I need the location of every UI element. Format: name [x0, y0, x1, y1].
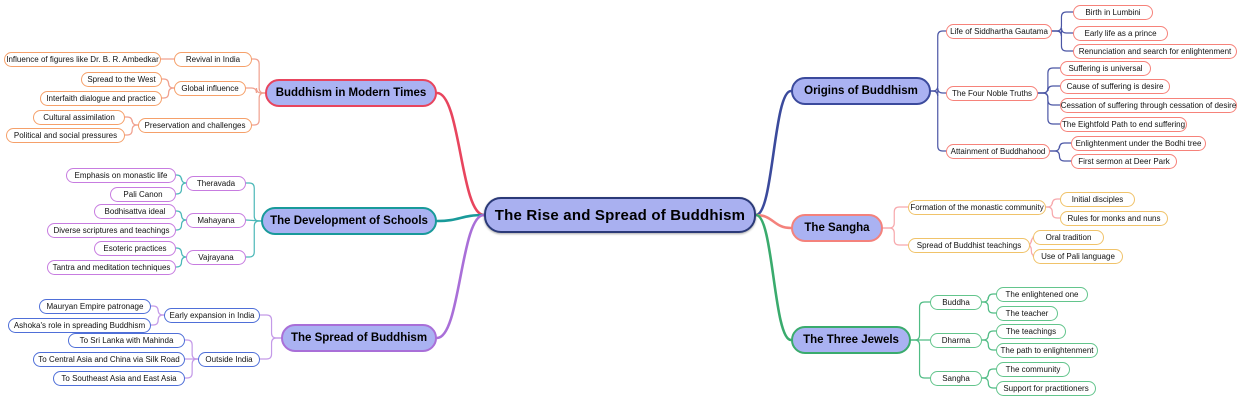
- connector: [1046, 199, 1060, 207]
- node-label: Global influence: [181, 84, 238, 93]
- node-attainment-buddhahood[interactable]: Attainment of Buddhahood: [946, 144, 1050, 159]
- branch-origins[interactable]: Origins of Buddhism: [791, 77, 931, 105]
- node-mauryan-patronage[interactable]: Mauryan Empire patronage: [39, 299, 151, 314]
- node-label: Theravada: [197, 179, 235, 188]
- node-label: Mauryan Empire patronage: [47, 302, 144, 311]
- node-label: Preservation and challenges: [145, 121, 246, 130]
- node-preservation-challenges[interactable]: Preservation and challenges: [138, 118, 252, 133]
- node-label: Diverse scriptures and teachings: [53, 226, 169, 235]
- connector: [176, 248, 187, 257]
- node-birth-in-lumbini[interactable]: Birth in Lumbini: [1073, 5, 1153, 20]
- connector: [756, 91, 791, 215]
- node-label: Interfaith dialogue and practice: [46, 94, 155, 103]
- connector: [151, 315, 164, 325]
- node-label: The Eightfold Path to end suffering: [1062, 120, 1185, 129]
- node-label: Birth in Lumbini: [1085, 8, 1140, 17]
- node-label: Early life as a prince: [1084, 29, 1156, 38]
- connector: [1052, 12, 1073, 31]
- connector: [982, 331, 996, 340]
- connector: [931, 31, 946, 91]
- connector: [185, 359, 198, 378]
- node-label: Renunciation and search for enlightenmen…: [1079, 47, 1232, 56]
- node-label: Enlightenment under the Bodhi tree: [1076, 139, 1202, 148]
- connector: [1038, 68, 1060, 93]
- node-early-life-prince[interactable]: Early life as a prince: [1073, 26, 1168, 41]
- branch-spread[interactable]: The Spread of Buddhism: [281, 324, 437, 352]
- root-label: The Rise and Spread of Buddhism: [495, 207, 745, 224]
- connector: [1050, 151, 1071, 161]
- node-label: The community: [1006, 365, 1061, 374]
- node-interfaith-dialogue[interactable]: Interfaith dialogue and practice: [40, 91, 162, 106]
- node-label: Sangha: [942, 374, 970, 383]
- branch-spread-label: The Spread of Buddhism: [291, 332, 427, 344]
- connector: [982, 369, 996, 378]
- node-label: Spread of Buddhist teachings: [917, 241, 1022, 250]
- node-the-community[interactable]: The community: [996, 362, 1070, 377]
- node-label: Early expansion in India: [170, 311, 255, 320]
- node-label: Influence of figures like Dr. B. R. Ambe…: [6, 55, 159, 64]
- branch-schools[interactable]: The Development of Schools: [261, 207, 437, 235]
- node-vajrayana[interactable]: Vajrayana: [186, 250, 246, 265]
- node-tantra-meditation[interactable]: Tantra and meditation techniques: [47, 260, 176, 275]
- branch-origins-label: Origins of Buddhism: [804, 85, 918, 97]
- connector: [151, 306, 164, 315]
- node-label: Support for practitioners: [1003, 384, 1088, 393]
- node-label: Esoteric practices: [103, 244, 166, 253]
- node-ambedkar-influence[interactable]: Influence of figures like Dr. B. R. Ambe…: [4, 52, 161, 67]
- connector: [1038, 93, 1060, 105]
- node-label: Buddha: [942, 298, 970, 307]
- node-theravada[interactable]: Theravada: [186, 176, 246, 191]
- node-label: Rules for monks and nuns: [1068, 214, 1161, 223]
- branch-modern-times-label: Buddhism in Modern Times: [276, 87, 427, 99]
- node-buddha[interactable]: Buddha: [930, 295, 982, 310]
- node-support-practitioners[interactable]: Support for practitioners: [996, 381, 1096, 396]
- connector: [931, 88, 946, 96]
- node-label: Pali Canon: [123, 190, 162, 199]
- node-political-social-pressures[interactable]: Political and social pressures: [6, 128, 125, 143]
- node-emphasis-monastic-life[interactable]: Emphasis on monastic life: [66, 168, 176, 183]
- connector: [883, 207, 908, 228]
- node-label: Political and social pressures: [14, 131, 117, 140]
- node-bodhisattva-ideal[interactable]: Bodhisattva ideal: [94, 204, 176, 219]
- connector: [125, 117, 138, 125]
- node-use-of-pali[interactable]: Use of Pali language: [1033, 249, 1123, 264]
- connector: [982, 378, 996, 388]
- node-life-of-siddhartha[interactable]: Life of Siddhartha Gautama: [946, 24, 1052, 39]
- node-spread-to-west[interactable]: Spread to the West: [81, 72, 162, 87]
- connector: [260, 338, 281, 359]
- node-label: Suffering is universal: [1068, 64, 1142, 73]
- branch-modern-times[interactable]: Buddhism in Modern Times: [265, 79, 437, 107]
- node-path-to-enlightenment[interactable]: The path to enlightenment: [996, 343, 1098, 358]
- node-revival-in-india[interactable]: Revival in India: [174, 52, 252, 67]
- node-label: Attainment of Buddhahood: [951, 147, 1046, 156]
- connector: [176, 175, 187, 183]
- connector: [176, 257, 187, 267]
- connector: [756, 215, 791, 340]
- connector: [260, 315, 281, 338]
- connector: [176, 211, 187, 220]
- node-mahayana[interactable]: Mahayana: [186, 213, 246, 228]
- node-formation-monastic[interactable]: Formation of the monastic community: [908, 200, 1046, 215]
- node-cause-of-suffering[interactable]: Cause of suffering is desire: [1060, 79, 1170, 94]
- connector: [437, 93, 484, 215]
- node-first-sermon[interactable]: First sermon at Deer Park: [1071, 154, 1177, 169]
- connector: [162, 88, 174, 98]
- node-label: The Four Noble Truths: [952, 89, 1032, 98]
- connector: [1052, 31, 1073, 51]
- node-renunciation[interactable]: Renunciation and search for enlightenmen…: [1073, 44, 1237, 59]
- node-label: The teacher: [1006, 309, 1049, 318]
- node-oral-tradition[interactable]: Oral tradition: [1033, 230, 1104, 245]
- node-label: Cultural assimilation: [43, 113, 115, 122]
- node-label: Oral tradition: [1046, 233, 1092, 242]
- node-sri-lanka-mahinda[interactable]: To Sri Lanka with Mahinda: [68, 333, 185, 348]
- node-label: The enlightened one: [1006, 290, 1079, 299]
- connector: [185, 340, 198, 359]
- node-rules-monks-nuns[interactable]: Rules for monks and nuns: [1060, 211, 1168, 226]
- branch-schools-label: The Development of Schools: [270, 215, 428, 227]
- connector: [883, 228, 908, 245]
- connector: [911, 302, 930, 340]
- branch-sangha[interactable]: The Sangha: [791, 214, 883, 242]
- node-southeast-east-asia[interactable]: To Southeast Asia and East Asia: [53, 371, 185, 386]
- node-label: Bodhisattva ideal: [105, 207, 166, 216]
- node-enlightenment-bodhi[interactable]: Enlightenment under the Bodhi tree: [1071, 136, 1206, 151]
- connector: [1038, 93, 1060, 124]
- connector: [437, 215, 484, 338]
- mindmap-canvas: The Rise and Spread of Buddhism Origins …: [0, 0, 1240, 400]
- root-node[interactable]: The Rise and Spread of Buddhism: [484, 197, 756, 233]
- connector: [1050, 143, 1071, 151]
- branch-three-jewels[interactable]: The Three Jewels: [791, 326, 911, 354]
- node-dharma[interactable]: Dharma: [930, 333, 982, 348]
- node-label: Revival in India: [186, 55, 240, 64]
- connector: [1052, 28, 1073, 36]
- node-early-expansion-india[interactable]: Early expansion in India: [164, 308, 260, 323]
- node-label: Mahayana: [197, 216, 234, 225]
- node-label: Spread to the West: [87, 75, 155, 84]
- node-label: The teachings: [1006, 327, 1056, 336]
- node-sangha-jewel[interactable]: Sangha: [930, 371, 982, 386]
- node-the-teacher[interactable]: The teacher: [996, 306, 1058, 321]
- node-central-asia-silk-road[interactable]: To Central Asia and China via Silk Road: [33, 352, 185, 367]
- node-label: Use of Pali language: [1041, 252, 1115, 261]
- node-label: Initial disciples: [1072, 195, 1124, 204]
- connector: [911, 340, 930, 378]
- node-label: The path to enlightenment: [1001, 346, 1094, 355]
- node-label: Tantra and meditation techniques: [53, 263, 171, 272]
- node-label: First sermon at Deer Park: [1078, 157, 1170, 166]
- node-label: Ashoka's role in spreading Buddhism: [14, 321, 145, 330]
- node-label: Formation of the monastic community: [910, 203, 1043, 212]
- node-label: To Southeast Asia and East Asia: [61, 374, 176, 383]
- node-eightfold-path[interactable]: The Eightfold Path to end suffering: [1060, 117, 1187, 132]
- connector: [1046, 207, 1060, 218]
- node-initial-disciples[interactable]: Initial disciples: [1060, 192, 1135, 207]
- node-label: To Central Asia and China via Silk Road: [38, 355, 179, 364]
- node-label: Dharma: [942, 336, 970, 345]
- branch-three-jewels-label: The Three Jewels: [803, 334, 899, 346]
- node-label: Vajrayana: [198, 253, 233, 262]
- connector: [1038, 86, 1060, 93]
- node-cultural-assimilation[interactable]: Cultural assimilation: [33, 110, 125, 125]
- connector: [125, 125, 138, 135]
- node-the-enlightened-one[interactable]: The enlightened one: [996, 287, 1088, 302]
- connector: [931, 91, 946, 151]
- node-four-noble-truths[interactable]: The Four Noble Truths: [946, 86, 1038, 101]
- node-cessation-of-suffering[interactable]: Cessation of suffering through cessation…: [1060, 98, 1237, 113]
- node-label: To Sri Lanka with Mahinda: [80, 336, 174, 345]
- node-label: Cessation of suffering through cessation…: [1061, 101, 1237, 110]
- connector: [176, 183, 187, 194]
- connector: [246, 221, 261, 257]
- node-outside-india[interactable]: Outside India: [198, 352, 260, 367]
- connector: [982, 302, 996, 313]
- connector: [246, 183, 261, 221]
- connector: [982, 340, 996, 350]
- connector: [176, 220, 187, 230]
- node-global-influence[interactable]: Global influence: [174, 81, 246, 96]
- node-pali-canon[interactable]: Pali Canon: [110, 187, 176, 202]
- connector: [162, 79, 174, 88]
- connector: [982, 294, 996, 302]
- node-label: Cause of suffering is desire: [1067, 82, 1164, 91]
- node-esoteric-practices[interactable]: Esoteric practices: [94, 241, 176, 256]
- node-diverse-scriptures[interactable]: Diverse scriptures and teachings: [47, 223, 176, 238]
- node-suffering-universal[interactable]: Suffering is universal: [1060, 61, 1151, 76]
- node-label: Outside India: [205, 355, 252, 364]
- node-ashoka-role[interactable]: Ashoka's role in spreading Buddhism: [8, 318, 151, 333]
- node-label: Emphasis on monastic life: [75, 171, 168, 180]
- node-spread-teachings[interactable]: Spread of Buddhist teachings: [908, 238, 1030, 253]
- node-the-teachings[interactable]: The teachings: [996, 324, 1066, 339]
- connector: [252, 93, 265, 125]
- branch-sangha-label: The Sangha: [804, 222, 869, 234]
- node-label: Life of Siddhartha Gautama: [950, 27, 1048, 36]
